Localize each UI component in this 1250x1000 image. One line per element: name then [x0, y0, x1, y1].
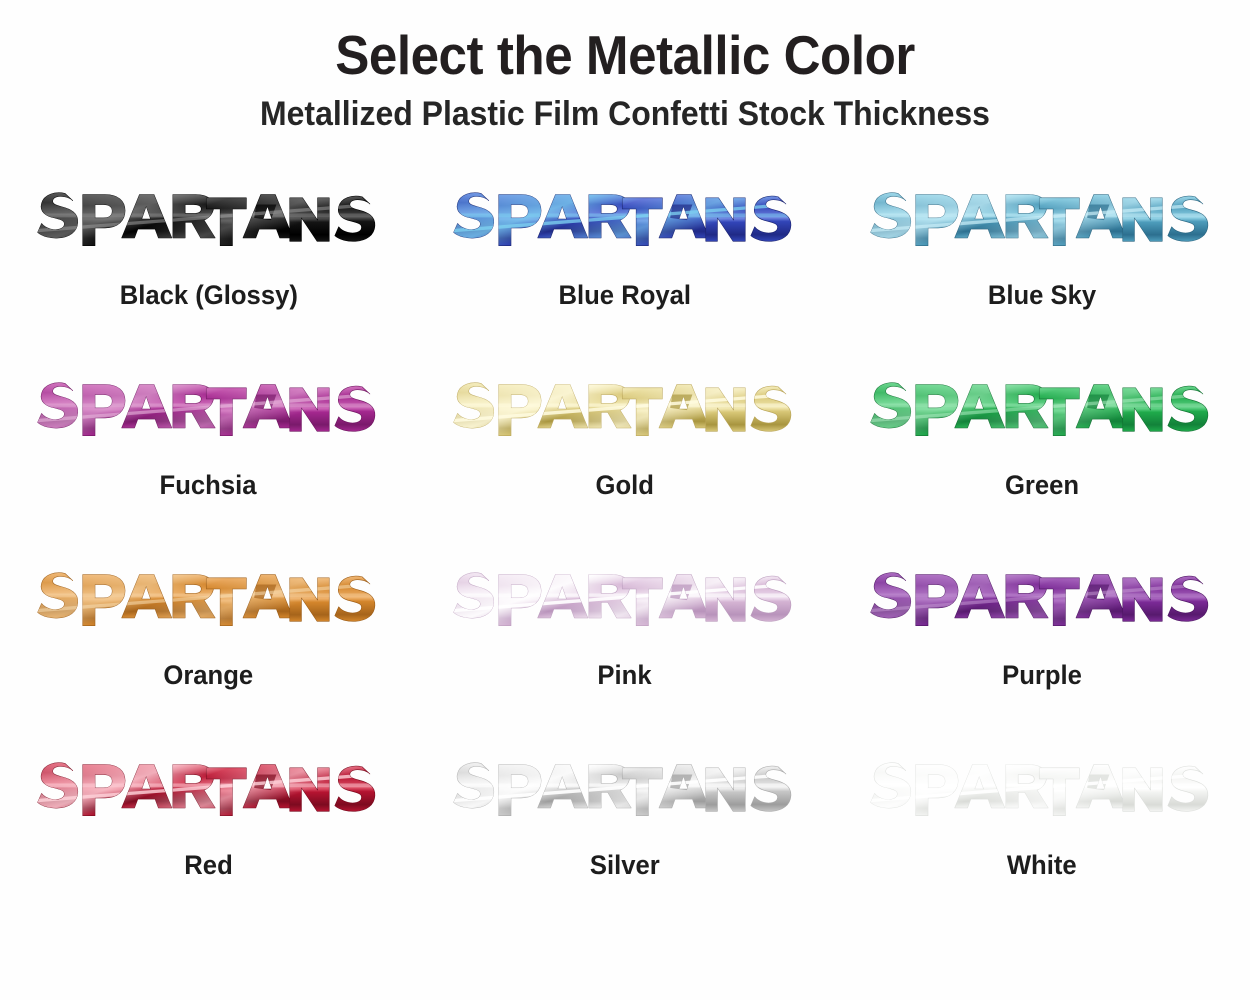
spartans-wordart-green [869, 353, 1214, 465]
color-swatch-option[interactable]: Green [833, 350, 1250, 540]
color-swatch-grid: Black (Glossy)Blue RoyalBlue SkyFuchsiaG… [0, 160, 1250, 920]
color-name-label: Orange [163, 660, 253, 691]
wordart-preview[interactable] [862, 160, 1222, 278]
spartans-wordart-blue-sky [869, 163, 1214, 275]
color-name-label: Blue Royal [559, 280, 692, 311]
spartans-wordart-fuchsia [36, 353, 381, 465]
spartans-wordart-white [869, 733, 1214, 845]
wordart-preview[interactable] [862, 350, 1222, 468]
color-name-label: Fuchsia [160, 470, 257, 501]
color-name-label: Gold [596, 470, 654, 501]
color-swatch-option[interactable]: Red [0, 730, 417, 920]
color-swatch-option[interactable]: White [833, 730, 1250, 920]
page-header: Select the Metallic Color Metallized Pla… [0, 0, 1250, 134]
wordart-preview[interactable] [28, 730, 388, 848]
color-name-label: Green [1005, 470, 1079, 501]
spartans-wordart-gold [452, 353, 797, 465]
wordart-preview[interactable] [28, 350, 388, 468]
color-swatch-option[interactable]: Pink [417, 540, 834, 730]
color-name-label: Silver [590, 850, 660, 881]
color-swatch-option[interactable]: Orange [0, 540, 417, 730]
wordart-preview[interactable] [862, 540, 1222, 658]
color-name-label: Red [184, 850, 232, 881]
color-swatch-option[interactable]: Black (Glossy) [0, 160, 417, 350]
wordart-preview[interactable] [28, 160, 388, 278]
color-swatch-option[interactable]: Blue Sky [833, 160, 1250, 350]
wordart-preview[interactable] [862, 730, 1222, 848]
color-name-label: Purple [1002, 660, 1082, 691]
color-swatch-option[interactable]: Gold [417, 350, 834, 540]
spartans-wordart-pink [452, 543, 797, 655]
wordart-preview[interactable] [28, 540, 388, 658]
color-swatch-option[interactable]: Silver [417, 730, 834, 920]
color-name-label: White [1007, 850, 1077, 881]
spartans-wordart-purple [869, 543, 1214, 655]
spartans-wordart-red [36, 733, 381, 845]
page-title: Select the Metallic Color [44, 26, 1207, 84]
page-subtitle: Metallized Plastic Film Confetti Stock T… [38, 96, 1213, 133]
color-swatch-option[interactable]: Blue Royal [417, 160, 834, 350]
spartans-wordart-black-glossy [36, 163, 381, 275]
spartans-wordart-orange [36, 543, 381, 655]
metallic-color-selector-page: Select the Metallic Color Metallized Pla… [0, 0, 1250, 1000]
wordart-preview[interactable] [445, 730, 805, 848]
color-name-label: Blue Sky [987, 280, 1095, 311]
wordart-preview[interactable] [445, 160, 805, 278]
wordart-preview[interactable] [445, 540, 805, 658]
color-swatch-option[interactable]: Fuchsia [0, 350, 417, 540]
color-name-label: Pink [598, 660, 652, 691]
spartans-wordart-silver [452, 733, 797, 845]
spartans-wordart-blue-royal [452, 163, 797, 275]
color-swatch-option[interactable]: Purple [833, 540, 1250, 730]
color-name-label: Black (Glossy) [119, 280, 297, 311]
wordart-preview[interactable] [445, 350, 805, 468]
